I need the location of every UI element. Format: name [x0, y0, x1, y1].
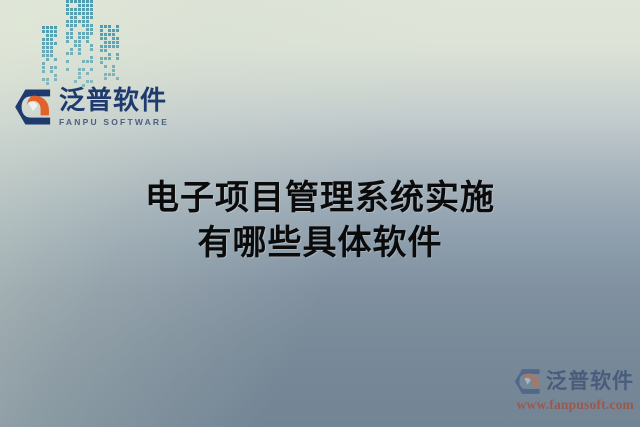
fanpu-logo-mark-watermark-icon: [514, 368, 541, 395]
brand-logo-wordmark: 泛普软件 FANPU SOFTWARE: [59, 88, 169, 127]
watermark-logo-row: 泛普软件: [479, 368, 634, 395]
headline: 电子项目管理系统实施 有哪些具体软件: [0, 176, 640, 266]
headline-line-1: 电子项目管理系统实施: [0, 176, 640, 221]
pixel-skyline-decoration: [42, 0, 142, 86]
promo-banner: 泛普软件 FANPU SOFTWARE 电子项目管理系统实施 有哪些具体软件 泛…: [0, 0, 640, 427]
fanpu-logo-mark-icon: [14, 88, 52, 126]
headline-line-2: 有哪些具体软件: [0, 221, 640, 266]
watermark-url: www.fanpusoft.com: [479, 397, 634, 413]
watermark-cn: 泛普软件: [546, 371, 634, 392]
brand-logo: 泛普软件 FANPU SOFTWARE: [14, 88, 169, 127]
watermark: 泛普软件 www.fanpusoft.com: [479, 368, 634, 413]
brand-logo-cn: 泛普软件: [59, 88, 169, 115]
brand-logo-en: FANPU SOFTWARE: [59, 118, 169, 127]
